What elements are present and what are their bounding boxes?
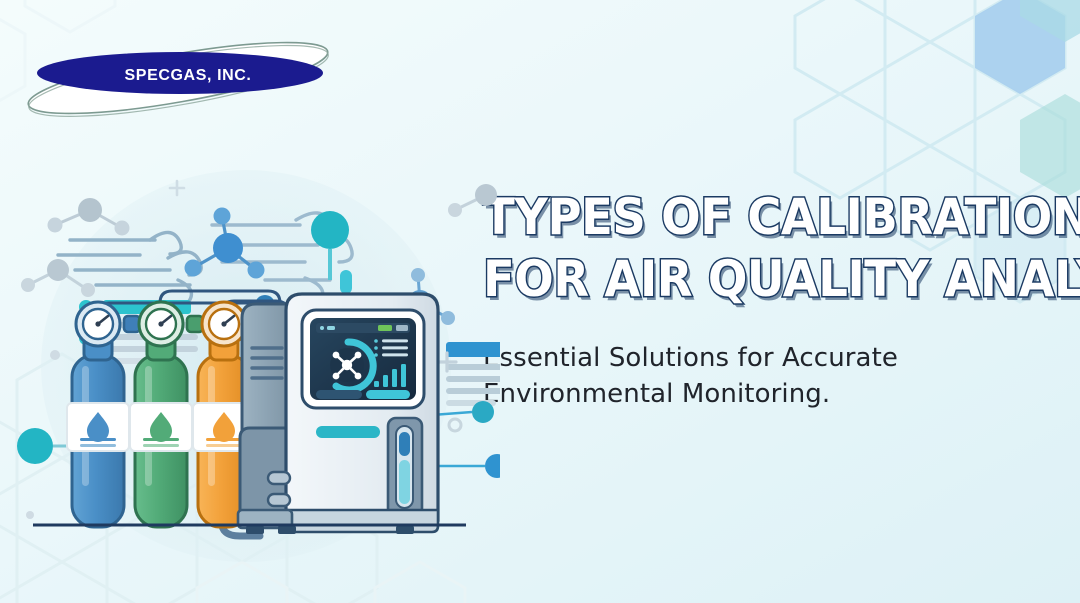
subheadline-line-1: Essential Solutions for Accurate: [483, 340, 1063, 376]
molecule-icon-grey-left: [21, 259, 95, 297]
headline-block: TYPES OF CALIBRATION GAS FOR AIR QUALITY…: [483, 186, 1063, 412]
logo-ellipse-front: [37, 52, 323, 94]
teal-circle-right: [472, 401, 494, 423]
screen-secondary-button: [316, 390, 362, 399]
analyzer-base: [286, 510, 438, 532]
illustration-svg: [0, 150, 500, 570]
status-indicator: [378, 325, 392, 331]
front-slot: [316, 426, 380, 438]
calibration-gas-illustration: [0, 150, 500, 570]
gas-analyzer-machine: [238, 294, 438, 534]
teal-circle-left: [17, 428, 53, 464]
wind-lines-icon: [58, 232, 201, 309]
subheadline-line-2: Environmental Monitoring.: [483, 376, 1063, 412]
headline-line-2: FOR AIR QUALITY ANALYSIS: [483, 248, 1022, 310]
card-header-bar: [446, 342, 500, 357]
teal-circle-large: [311, 211, 349, 249]
logo-mark: [20, 28, 350, 123]
page-subtitle: Essential Solutions for Accurate Environ…: [483, 340, 1063, 412]
headline-line-1: TYPES OF CALIBRATION GAS: [483, 186, 1022, 248]
molecule-icon-blue-main: [185, 208, 265, 279]
blue-circle-right: [485, 454, 500, 478]
banner-stage: SPECGAS, INC. TYPES OF CALIBRATION GAS F…: [0, 0, 1080, 603]
molecule-icon-grey-top: [48, 198, 130, 236]
plus-icon: [170, 181, 184, 195]
outline-circle: [449, 419, 461, 431]
page-title: TYPES OF CALIBRATION GAS FOR AIR QUALITY…: [483, 186, 1022, 310]
screen-primary-button: [366, 390, 410, 399]
specgas-logo[interactable]: SPECGAS, INC.: [20, 28, 350, 123]
molecule-icon-grey-far-right: [448, 184, 497, 217]
